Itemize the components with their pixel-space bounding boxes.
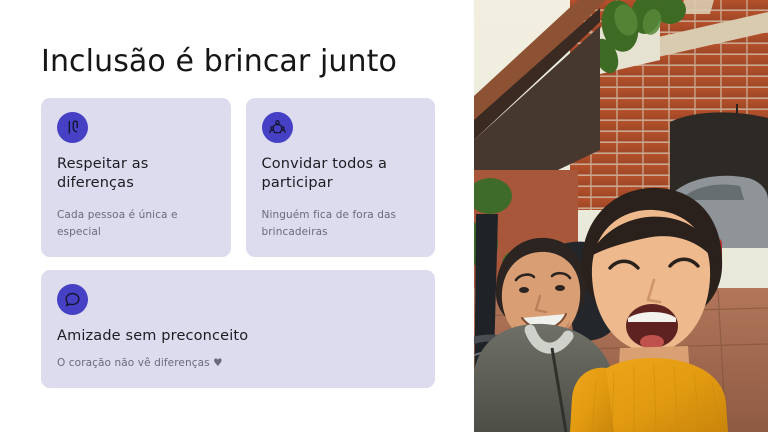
cards-area: Respeitar as diferenças Cada pessoa é ún… [41, 98, 435, 388]
card-title: Respeitar as diferenças [57, 155, 215, 193]
card-respeitar[interactable]: Respeitar as diferenças Cada pessoa é ún… [41, 98, 231, 257]
slide-root: Inclusão é brincar junto Respeitar as di… [0, 0, 768, 432]
page-title: Inclusão é brincar junto [41, 44, 397, 80]
card-row-top: Respeitar as diferenças Cada pessoa é ún… [41, 98, 435, 257]
card-subtitle: Cada pessoa é única e especial [57, 207, 215, 241]
card-subtitle: Ninguém fica de fora das brincadeiras [262, 207, 420, 241]
card-title: Amizade sem preconceito [57, 327, 419, 346]
card-amizade[interactable]: Amizade sem preconceito O coração não vê… [41, 270, 435, 388]
card-convidar[interactable]: Convidar todos a participar Ninguém fica… [246, 98, 436, 257]
speech-bubble-icon [57, 284, 88, 315]
card-row-bottom: Amizade sem preconceito O coração não vê… [41, 270, 435, 388]
people-group-icon [262, 112, 293, 143]
card-title: Convidar todos a participar [262, 155, 420, 193]
hands-raised-icon [57, 112, 88, 143]
photo-image [474, 0, 768, 432]
card-subtitle: O coração não vê diferenças ♥ [57, 355, 419, 372]
content-pane: Inclusão é brincar junto Respeitar as di… [0, 0, 474, 432]
